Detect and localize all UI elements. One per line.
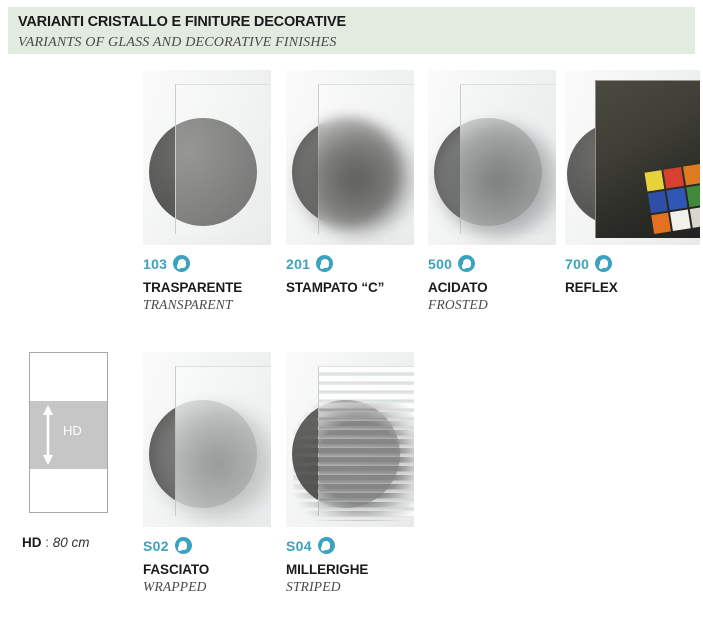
hd-dimension-diagram: HD — [29, 352, 108, 513]
finish-code-row-s02: S02 — [143, 536, 271, 555]
glass-pane-transparent — [175, 84, 271, 234]
page-subtitle: VARIANTS OF GLASS AND DECORATIVE FINISHE… — [18, 33, 695, 52]
color-swatch — [664, 167, 684, 189]
finish-card-s02[interactable]: S02 FASCIATO WRAPPED — [143, 352, 271, 595]
finish-card-s04[interactable]: S04 MILLERIGHE STRIPED — [286, 352, 414, 595]
finish-code: S04 — [286, 538, 312, 554]
finger-touch-icon[interactable] — [595, 255, 612, 272]
finish-name-en: TRANSPARENT — [143, 297, 271, 313]
finish-card-700[interactable]: 700 REFLEX — [565, 70, 700, 297]
color-swatch — [689, 206, 700, 228]
color-swatch — [670, 209, 690, 231]
finish-name-it: TRASPARENTE — [143, 280, 271, 295]
finish-code: 500 — [428, 256, 452, 272]
finish-card-500[interactable]: 500 ACIDATO FROSTED — [428, 70, 556, 313]
glass-pane-wrapped — [175, 366, 271, 516]
finish-name-it: FASCIATO — [143, 562, 271, 577]
finish-name-en: WRAPPED — [143, 579, 271, 595]
finish-code-row-700: 700 — [565, 254, 700, 273]
hd-double-arrow-icon — [42, 405, 54, 465]
finish-code: 201 — [286, 256, 310, 272]
finish-sample-image-s04[interactable] — [286, 352, 414, 527]
page-title: VARIANTI CRISTALLO E FINITURE DECORATIVE — [18, 13, 695, 31]
color-swatch — [683, 164, 700, 186]
finish-sample-image-201[interactable] — [286, 70, 414, 245]
finish-name-it: REFLEX — [565, 280, 700, 295]
color-swatch — [667, 188, 687, 210]
finish-card-201[interactable]: 201 STAMPATO “C” — [286, 70, 414, 297]
finish-card-103[interactable]: 103 TRASPARENTE TRANSPARENT — [143, 70, 271, 313]
finish-name-en: STRIPED — [286, 579, 414, 595]
finish-sample-image-s02[interactable] — [143, 352, 271, 527]
finish-sample-image-700[interactable] — [565, 70, 700, 245]
finish-code-row-103: 103 — [143, 254, 271, 273]
finish-code-row-201: 201 — [286, 254, 414, 273]
hd-caption-key: HD — [22, 535, 42, 550]
diffused-sphere — [433, 121, 556, 239]
hd-caption-separator: : — [42, 535, 53, 550]
glass-pane-printed-c — [318, 84, 414, 234]
hd-caption: HD : 80 cm — [22, 534, 90, 552]
hd-caption-value: 80 cm — [53, 535, 90, 550]
finish-name-it: ACIDATO — [428, 280, 556, 295]
diffused-sphere — [293, 119, 414, 239]
color-swatch — [648, 191, 668, 213]
finish-code: 700 — [565, 256, 589, 272]
finger-touch-icon[interactable] — [173, 255, 190, 272]
finger-touch-icon[interactable] — [318, 537, 335, 554]
glass-pane-striped — [318, 366, 414, 516]
finish-sample-image-500[interactable] — [428, 70, 556, 245]
hd-band-label: HD — [63, 423, 82, 438]
finger-touch-icon[interactable] — [458, 255, 475, 272]
finish-sample-image-103[interactable] — [143, 70, 271, 245]
color-swatch — [686, 185, 700, 207]
page-header: VARIANTI CRISTALLO E FINITURE DECORATIVE… — [8, 7, 695, 54]
glass-pane-frosted — [460, 84, 556, 234]
finger-touch-icon[interactable] — [316, 255, 333, 272]
finish-code: S02 — [143, 538, 169, 554]
color-checker-chart — [644, 164, 700, 234]
color-swatch — [644, 170, 664, 192]
finish-name-it: MILLERIGHE — [286, 562, 414, 577]
diffused-sphere — [152, 405, 271, 521]
finish-name-en: FROSTED — [428, 297, 556, 313]
finger-touch-icon[interactable] — [175, 537, 192, 554]
finish-code: 103 — [143, 256, 167, 272]
finish-code-row-500: 500 — [428, 254, 556, 273]
finish-name-it: STAMPATO “C” — [286, 280, 414, 295]
finish-code-row-s04: S04 — [286, 536, 414, 555]
striped-sphere — [293, 403, 414, 521]
color-swatch — [651, 212, 671, 234]
